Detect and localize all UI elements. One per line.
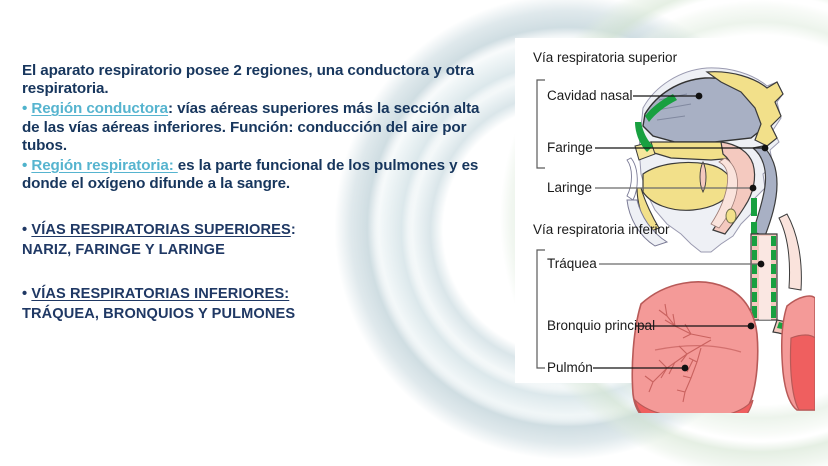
bracket-lower — [537, 250, 545, 368]
bracket-upper — [537, 80, 545, 168]
caps-heading-superiores-suffix: : — [291, 222, 296, 238]
caps-heading-inferiores-text: VÍAS RESPIRATORIAS INFERIORES: — [31, 286, 289, 302]
caps-items-inferiores: TRÁQUEA, BRONQUIOS Y PULMONES — [22, 304, 490, 324]
caps-section-inferiores: • VÍAS RESPIRATORIAS INFERIORES: TRÁQUEA… — [22, 284, 490, 324]
caps-items-superiores: NARIZ, FARINGE Y LARINGE — [22, 240, 490, 260]
figure-label-faringe: Faringe — [547, 140, 593, 155]
figure-label-pulmon: Pulmón — [547, 360, 593, 375]
link-region-conductora[interactable]: Región conductora — [31, 100, 168, 117]
caps-heading-superiores: • VÍAS RESPIRATORIAS SUPERIORES: — [22, 220, 490, 240]
intro-paragraph: El aparato respiratorio posee 2 regiones… — [22, 62, 490, 98]
bullet-conductora: • Región conductora: vías aéreas superio… — [22, 100, 490, 155]
caps-heading-superiores-text: VÍAS RESPIRATORIAS SUPERIORES — [31, 222, 290, 238]
figure-label-bronquio-principal: Bronquio principal — [547, 318, 655, 333]
text-column: El aparato respiratorio posee 2 regiones… — [22, 62, 490, 324]
figure-label-cavidad-nasal: Cavidad nasal — [547, 88, 633, 103]
slide-canvas: El aparato respiratorio posee 2 regiones… — [0, 0, 828, 466]
figure-group-label-upper: Vía respiratoria superior — [533, 50, 678, 65]
dot-pulmon — [682, 365, 689, 372]
figure-label-laringe: Laringe — [547, 180, 592, 195]
link-region-respiratoria[interactable]: Región respiratoria: — [31, 157, 177, 174]
dot-bronquio — [748, 323, 755, 330]
caps-section-superiores: • VÍAS RESPIRATORIAS SUPERIORES: NARIZ, … — [22, 220, 490, 260]
lungs — [632, 282, 815, 413]
caps-spacer — [22, 260, 490, 284]
dot-faringe — [762, 145, 769, 152]
dot-cavidad-nasal — [696, 93, 703, 100]
respiratory-system-diagram: Vía respiratoria superior Cavidad nasal … — [515, 38, 815, 413]
dot-laringe — [750, 185, 757, 192]
figure-group-label-lower: Vía respiratoria inferior — [533, 222, 670, 237]
figure-label-traquea: Tráquea — [547, 256, 597, 271]
dot-traquea — [758, 261, 765, 268]
bullet-respiratoria: • Región respiratoria: es la parte funci… — [22, 157, 490, 193]
caps-heading-inferiores: • VÍAS RESPIRATORIAS INFERIORES: — [22, 284, 490, 304]
